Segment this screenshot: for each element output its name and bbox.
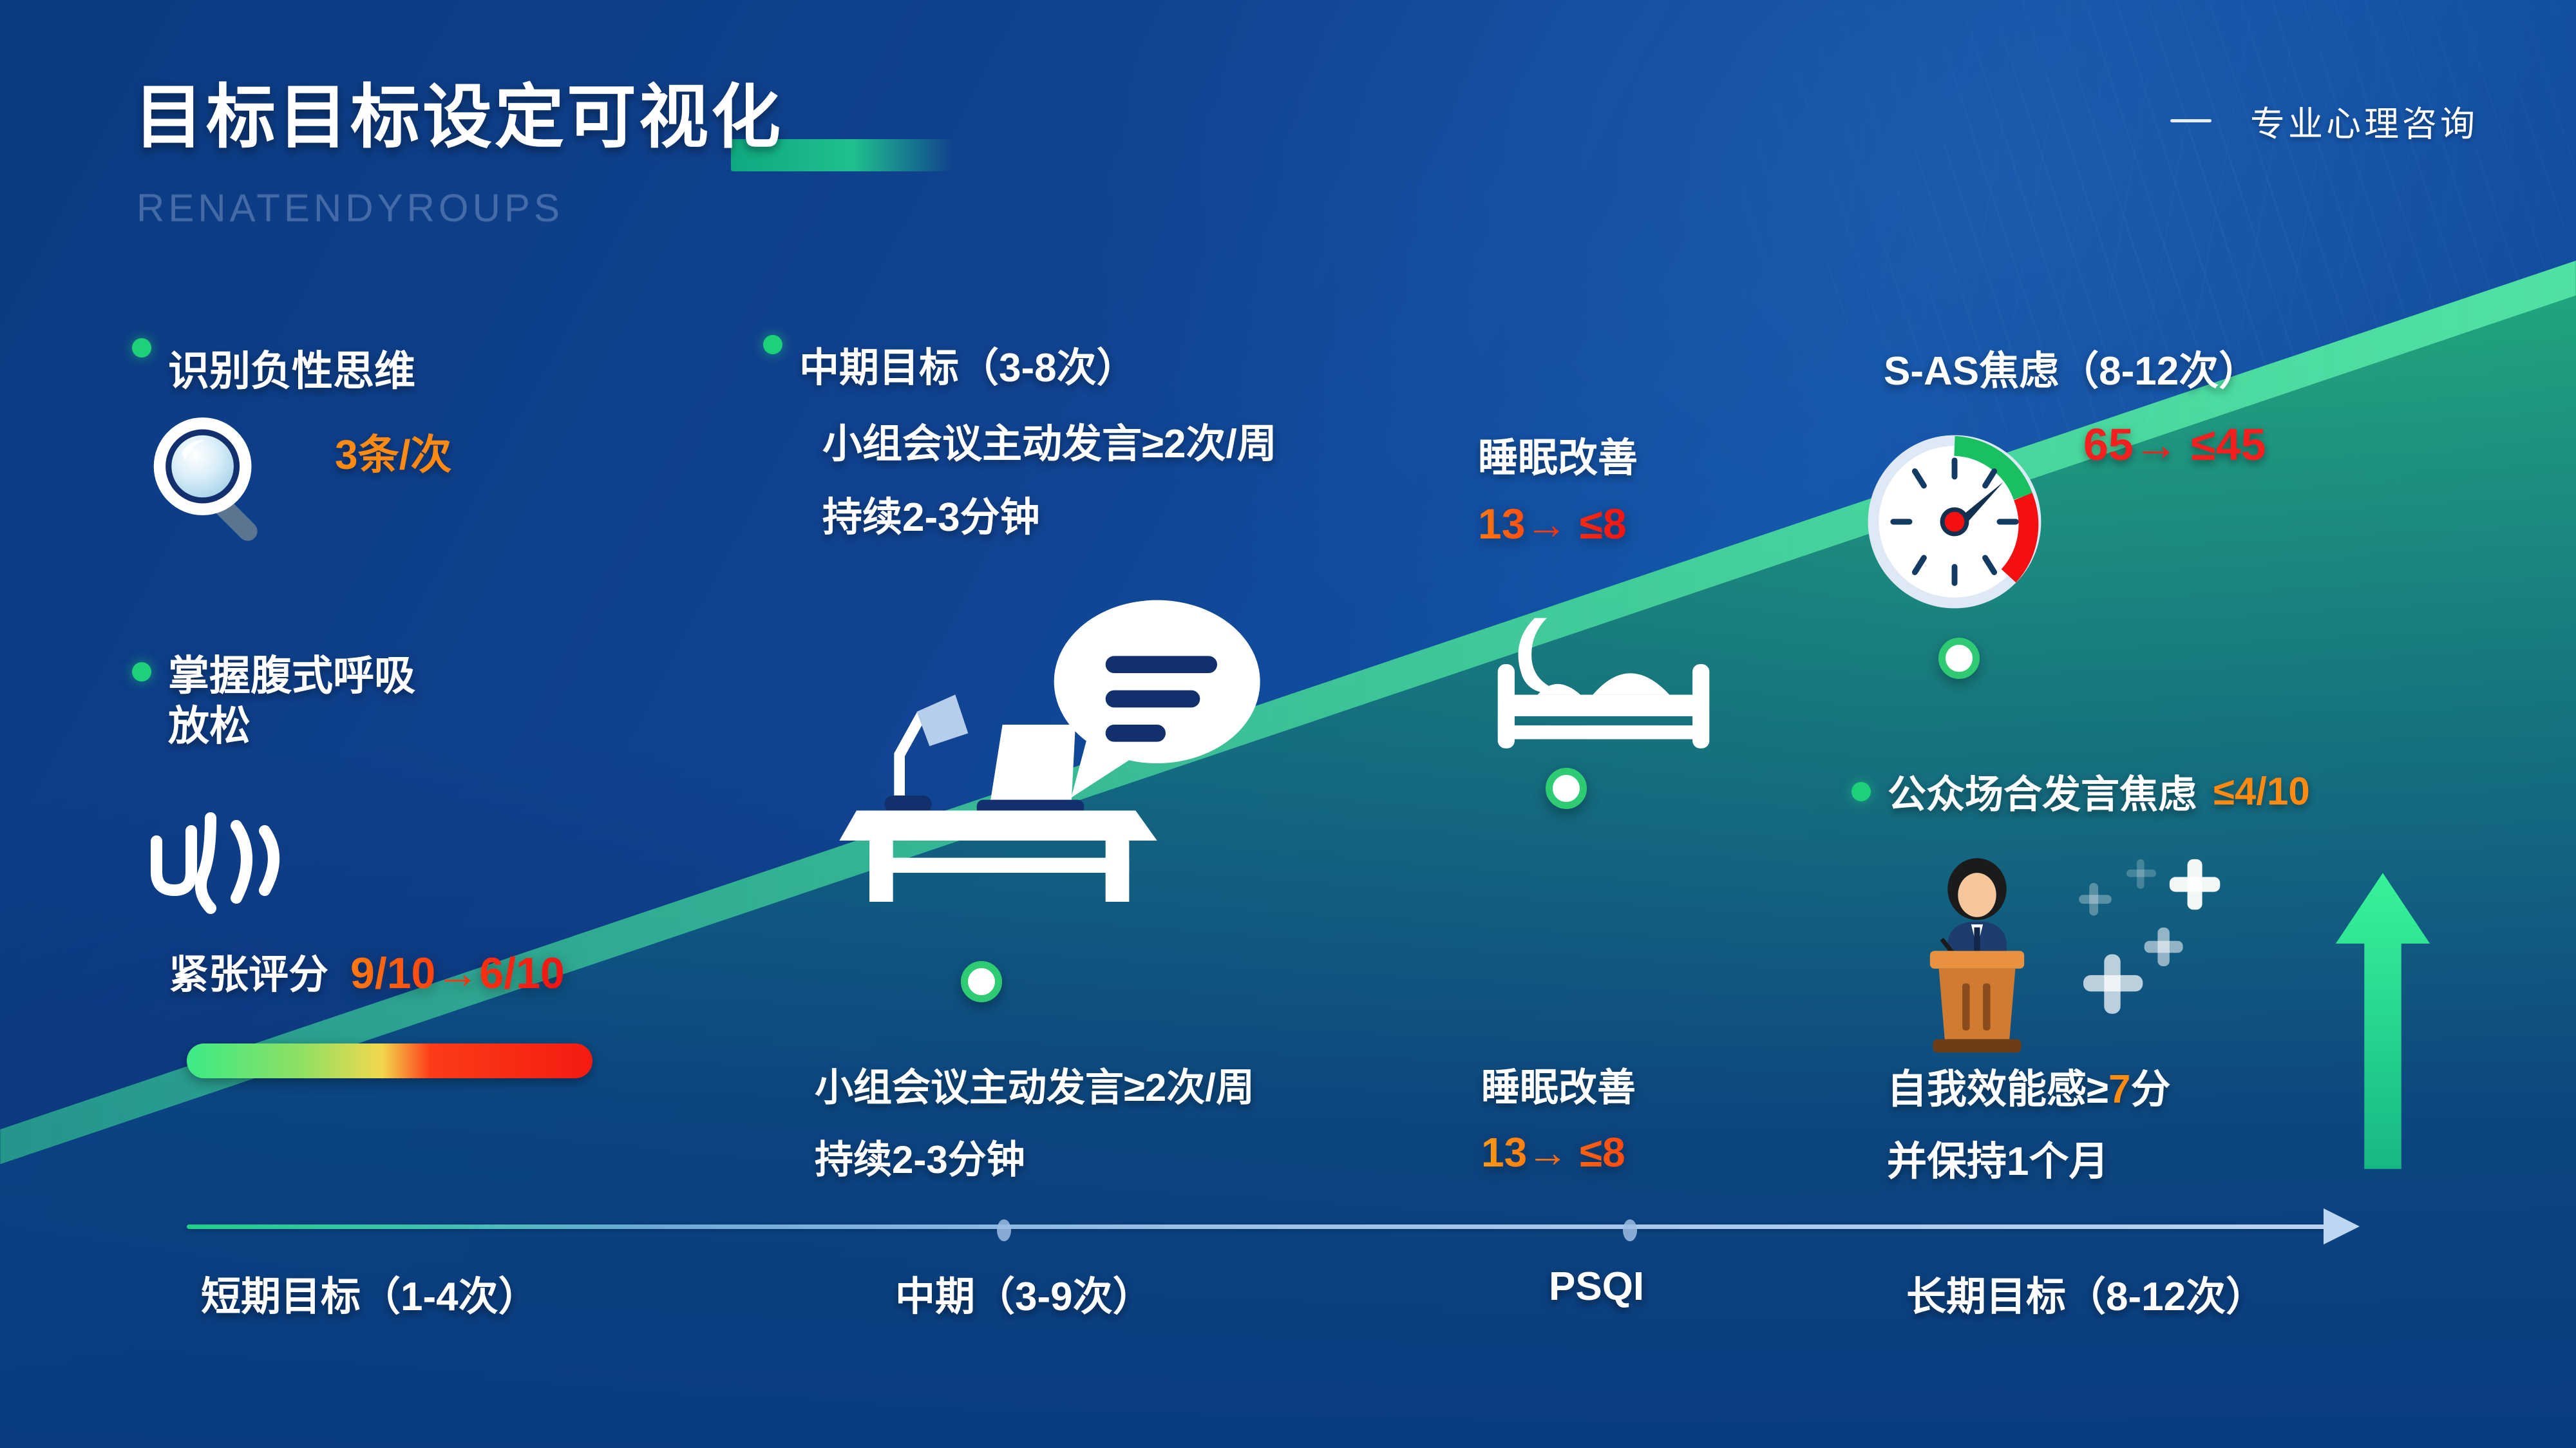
short-term-goal2: 掌握腹式呼吸 放松: [132, 651, 415, 751]
brand-block: 专业心理咨询: [2170, 95, 2478, 146]
self-efficacy-line1: 自我效能感≥7分: [1887, 1056, 2171, 1114]
short-term-goal1-label: 识别负性思维: [168, 338, 415, 397]
page-ghost-subtitle: RENATENDYROUPS: [137, 186, 563, 230]
green-dot-icon: [132, 338, 151, 357]
page-title: 目标目标设定可视化: [134, 61, 783, 162]
short-term-goal1-badge: 3条/次: [335, 422, 451, 481]
public-speaking-row: 公众场合发言焦虑 ≤4/10: [1851, 763, 2310, 819]
mid-term-bottom-line1: 小组会议主动发言≥2次/周: [815, 1056, 1255, 1112]
timeline-node-mid: [997, 1219, 1011, 1241]
sleep-title: 睡眠改善: [1478, 425, 1638, 483]
public-speaking-value: ≤4/10: [2213, 769, 2310, 814]
tension-score-label: 紧张评分: [169, 942, 328, 1000]
timeline-node-psqi: [1623, 1219, 1637, 1241]
plus-sparkles-icon: [2070, 850, 2251, 1043]
milestone-dot-mid: [961, 961, 1002, 1002]
long-term-value: 65→ ≤45: [2083, 419, 2266, 470]
header: 目标目标设定可视化 RENATENDYROUPS 专业心理咨询: [0, 0, 2576, 213]
sleep-bottom-title: 睡眠改善: [1481, 1056, 1636, 1112]
short-term-goal1: 识别负性思维: [132, 338, 415, 397]
self-efficacy-line2: 并保持1个月: [1887, 1129, 2108, 1186]
brand-dash-icon: [2170, 119, 2211, 122]
mid-term-header: 中期目标（3-8次）: [763, 335, 1137, 393]
green-dot-icon: [763, 335, 782, 354]
green-dot-icon: [1851, 782, 1871, 801]
public-speaking-label: 公众场合发言焦虑: [1888, 763, 2197, 819]
short-term-goal2-label-line1: 掌握腹式呼吸: [168, 651, 415, 701]
up-arrow-icon: [2331, 870, 2434, 1172]
tension-score-value: 9/10→6/10: [350, 948, 565, 998]
gauge-icon: [1864, 432, 2045, 612]
brand-text: 专业心理咨询: [2250, 95, 2478, 146]
milestone-dot-long: [1938, 638, 1980, 679]
mid-term-line2: 小组会议主动发言≥2次/周: [822, 411, 1277, 469]
timeline-label-2: PSQI: [1549, 1264, 1644, 1310]
right-arrow-icon: [2324, 1208, 2360, 1244]
magnifier-icon: [140, 407, 289, 555]
short-term-tension-score: 紧张评分 9/10→6/10: [169, 942, 565, 1000]
tension-gradient-bar-icon: [187, 1043, 592, 1078]
mid-term-bottom-line2: 持续2-3分钟: [815, 1129, 1025, 1185]
self-efficacy-suffix: 分: [2131, 1067, 2171, 1112]
mid-term-title: 中期目标（3-8次）: [799, 335, 1137, 393]
desk-lamp-laptop-chat-icon: [831, 599, 1282, 902]
breathing-wave-icon: [138, 792, 306, 921]
podium-speaker-icon: [1903, 857, 2051, 1063]
self-efficacy-label: 自我效能感≥: [1887, 1067, 2108, 1112]
timeline-label-1: 中期（3-9次）: [895, 1264, 1153, 1322]
long-term-title: S-AS焦虑（8-12次）: [1884, 338, 2259, 396]
green-dot-icon: [132, 662, 151, 681]
self-efficacy-value: 7: [2108, 1067, 2130, 1112]
sleep-value: 13→ ≤8: [1478, 499, 1627, 548]
timeline-axis: [187, 1223, 2396, 1230]
sleep-bottom-value: 13→ ≤8: [1481, 1129, 1625, 1176]
bed-moon-icon: [1488, 612, 1719, 773]
timeline-axis-line: [187, 1224, 2331, 1229]
timeline-label-0: 短期目标（1-4次）: [201, 1264, 538, 1322]
milestone-dot-sleep: [1546, 768, 1587, 809]
timeline-label-3: 长期目标（8-12次）: [1906, 1264, 2266, 1322]
short-term-goal2-label-line2: 放松: [168, 701, 415, 751]
mid-term-line3: 持续2-3分钟: [822, 484, 1040, 542]
